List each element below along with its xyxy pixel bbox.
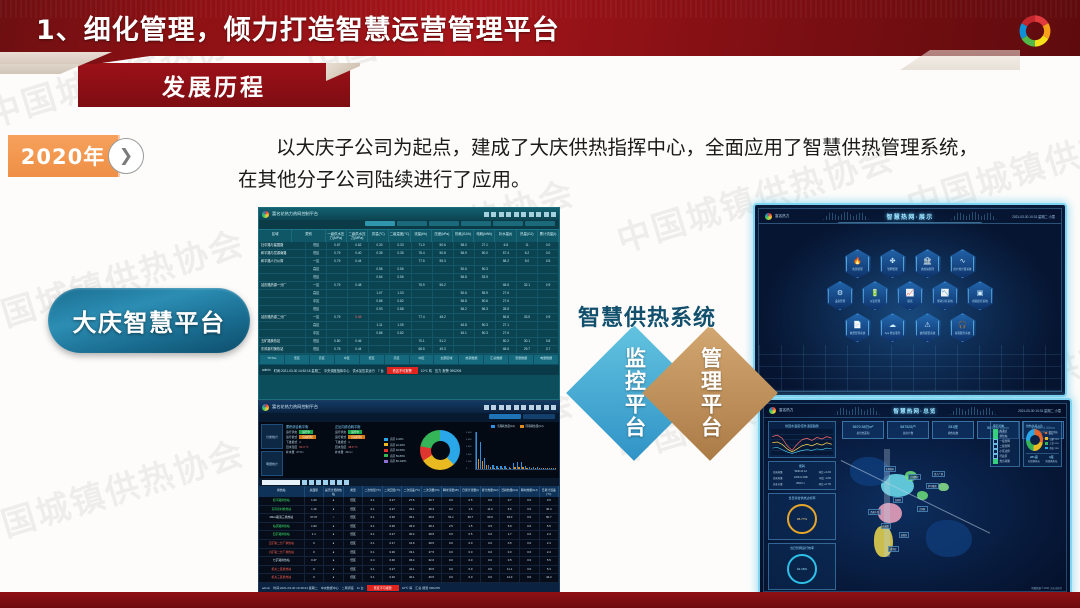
bl-cell: 44.3 xyxy=(540,574,560,582)
tl-cell: 0.5 xyxy=(538,258,559,265)
bl-cell: ● xyxy=(324,557,344,565)
tl-cell xyxy=(433,306,454,313)
tl-footer-buttons[interactable]: TOTAL低区高区中区低区高区中区全部区域热源数据汇总数据流量数据电量数据 xyxy=(259,354,559,365)
bl-panel-row: 运行模式自动控制 xyxy=(335,435,381,439)
tl-footer-button[interactable]: 热源数据 xyxy=(459,355,483,364)
tl-cell xyxy=(538,306,559,313)
window-icon[interactable] xyxy=(551,405,556,410)
bl-cell: 1.6 xyxy=(461,506,481,514)
bl-cell: 0.1 xyxy=(363,540,383,548)
bl-cell: 0.0 xyxy=(520,566,540,574)
br-gauge-card-1: 当日综合供热达标率 98.77% xyxy=(768,493,836,540)
bl-row-key: 运行模式 xyxy=(286,435,297,439)
bl-cell: 63.0 xyxy=(481,514,501,522)
folder-icon[interactable] xyxy=(344,480,349,485)
map-pin[interactable]: 铁人广场 xyxy=(932,471,945,477)
br-energy-row: 总补水量8603.1 t同比 +0.7% xyxy=(771,481,833,487)
bl-cell: 0.4 xyxy=(363,557,383,565)
gear-icon[interactable] xyxy=(544,405,549,410)
tr-hexagon-menu[interactable]: 🔥热源管理✤管网管理🏦换热站管理∿用户热计量系统⚙设备管理🔋仪表管理📈报表📉能耗… xyxy=(759,249,1061,343)
legend-swatch xyxy=(520,425,524,428)
chart-icon[interactable] xyxy=(521,212,526,217)
tl-cell xyxy=(348,306,369,313)
tl-cell: 50.6 xyxy=(454,290,475,297)
tl-cell: 48.6 xyxy=(496,346,517,353)
bl-cell: 0.0 xyxy=(481,566,501,574)
tl-cell-name: 五矿路换热站 xyxy=(259,338,306,345)
bl-row-value: 运行中 xyxy=(299,430,313,434)
hex-flame[interactable]: 🔥热源管理 xyxy=(845,249,871,279)
map-pin[interactable]: 东风新村 xyxy=(884,466,897,472)
tl-footer-button[interactable]: 低区 xyxy=(360,355,384,364)
br-bottom-label: 在线换热站 xyxy=(1026,459,1041,463)
tl-cell: 0.48 xyxy=(348,282,369,289)
tl-alert-button[interactable]: 低区不可报警 xyxy=(387,367,418,374)
bl-alert-button[interactable]: 低区不可报警 xyxy=(367,585,399,591)
tl-cell xyxy=(475,338,496,345)
table-icon[interactable] xyxy=(506,212,511,217)
map-pin[interactable]: 高新区 xyxy=(899,532,910,538)
br-title: 智慧热网·总览 xyxy=(764,407,1066,415)
bl-cell: 0.5 xyxy=(500,557,520,565)
tl-column-header: 压差(kPa) xyxy=(432,230,453,242)
hex-headset[interactable]: 🎧客服服务系统 xyxy=(950,313,976,343)
tl-cell: 0.79 xyxy=(327,258,348,265)
bar-series-2 xyxy=(498,468,499,469)
hex-report[interactable]: 📈报表 xyxy=(897,281,923,311)
bl-column-header: 是否计费换热站 xyxy=(324,486,344,497)
bl-cell: 0.0 xyxy=(481,540,501,548)
search-icon[interactable] xyxy=(302,480,307,485)
table-row: 低区0.640.5656.853.5 xyxy=(259,274,559,282)
tl-cell: 56.8 xyxy=(496,314,517,321)
bl-cell: 低区 xyxy=(344,497,364,505)
bl-column-header: 换热站 xyxy=(259,486,305,497)
pin-icon[interactable] xyxy=(514,405,519,410)
map-zone-pink xyxy=(878,503,902,523)
tl-column-header: 类别 xyxy=(292,230,325,242)
tl-cell: 77.4 xyxy=(412,314,433,321)
tl-footer-button[interactable]: 汇总数据 xyxy=(484,355,508,364)
bl-cell: 1.5 xyxy=(461,523,481,531)
tr-title: 智慧热网·展示 xyxy=(759,212,1061,221)
center-title: 智慧供热系统 xyxy=(578,300,716,332)
bar-series-2 xyxy=(526,468,527,469)
device-icon: 🔋 xyxy=(871,290,880,298)
bl-cell: ● xyxy=(324,506,344,514)
bl-cell: 36.1 xyxy=(402,514,422,522)
br-gauge2-value: 92.16% xyxy=(787,554,817,584)
tl-cell xyxy=(390,346,411,353)
bl-cell: 0 xyxy=(305,574,325,582)
hex-building[interactable]: 🏦换热站管理 xyxy=(915,249,941,279)
tl-cell xyxy=(412,266,433,273)
br-kpi-label: 总供热面积 xyxy=(857,431,870,435)
tl-cell: 27.1 xyxy=(496,322,517,329)
tl-cell xyxy=(517,306,538,313)
bl-cell: 0.6 xyxy=(481,497,501,505)
bl-bar-legend: 当期耗热量(GJ)同期耗热量(GJ) xyxy=(491,424,543,428)
tl-cell-name xyxy=(259,266,306,273)
hex-monitor[interactable]: ▣视频监控系统 xyxy=(967,281,993,311)
table-row: 社中路与建国路低区0.670.620.330.3371.050.658.027.… xyxy=(259,242,559,250)
tl-tab-5[interactable] xyxy=(525,221,555,226)
bl-ytick: 1 000 xyxy=(466,461,471,463)
bl-cell: 0 xyxy=(305,540,325,548)
tl-cell-name: 社中路与建国路 xyxy=(259,242,306,249)
alarm-icon: ⚠ xyxy=(924,322,930,330)
bl-status-count: 11 台 xyxy=(357,586,364,590)
tl-cell-name: 站庆路热源二分厂 xyxy=(259,314,306,321)
tl-cell: 50.2 xyxy=(496,338,517,345)
bl-cell: 2.4 xyxy=(540,549,560,557)
br-map-canvas[interactable]: 东风新村让胡路区萨尔图区龙凤区大同区红岗区高新区乘风庄铁人广场西苑小区 xyxy=(838,440,990,583)
tl-cell xyxy=(348,266,369,273)
map-pin[interactable]: 让胡路区 xyxy=(908,474,921,480)
bl-table-header: 换热站总面积是否计费换热站类型二次供温(℃)二次回温(℃)二次温差(℃)二次流量… xyxy=(259,486,559,497)
search-input[interactable] xyxy=(262,480,300,485)
tl-status-weather: 10℃ 晴 xyxy=(421,368,432,373)
bar-group xyxy=(484,432,487,469)
bl-cell: 0.7 xyxy=(500,497,520,505)
bl-row-value: 50.3 ℃ xyxy=(299,445,308,449)
legend-label: 当期耗热量(GJ) xyxy=(497,424,515,428)
bl-cell-name: 机关二区换热站 xyxy=(259,566,305,574)
hex-wave[interactable]: ∿用户热计量系统 xyxy=(950,249,976,279)
tl-cell: 0.67 xyxy=(327,242,348,249)
tl-cell xyxy=(327,266,348,273)
table-row: 机关三区换热站0●低区0.10.2040.130.50.00.00.012.00… xyxy=(259,574,559,583)
table-row: 站庆路热源二分厂一区0.790.4577.448.256.833.50.9 xyxy=(259,314,559,322)
tl-status-time: 时间:2021-03-30 14:52:16 星期二 xyxy=(274,368,321,373)
bl-cell-name: 五矿路二分厂换热站 xyxy=(259,540,305,548)
tl-cell-category: 低区 xyxy=(306,306,327,313)
br-energy-rows: 总耗热量5948.32 GJ同比 +3.2%总耗电量12634.2 kWh同比 … xyxy=(771,469,833,487)
hex-alarm[interactable]: ⚠故障报警系统 xyxy=(915,313,941,343)
list-icon[interactable] xyxy=(491,405,496,410)
tl-cell: 0.82 xyxy=(390,330,411,337)
tl-cell: 1.05 xyxy=(390,322,411,329)
tl-tab-3[interactable] xyxy=(461,221,491,226)
tl-column-header: 二级温度(℃) xyxy=(389,230,410,242)
ribbon-label: 发展历程 xyxy=(78,63,350,107)
map-pin[interactable]: 大同区 xyxy=(917,506,928,512)
br-energy-card: 能耗 总耗热量5948.32 GJ同比 +3.2%总耗电量12634.2 kWh… xyxy=(768,461,836,490)
hex-label: 报表 xyxy=(907,299,912,303)
bl-cell: 0.5 xyxy=(461,497,481,505)
table-row: 东风新村换热站1.16●低区0.10.2732.128.39.21.611.06… xyxy=(259,506,559,515)
bl-cell: 0.0 xyxy=(520,523,540,531)
tl-cell: 58.2 xyxy=(496,258,517,265)
tl-cell xyxy=(433,290,454,297)
legend-label: 高区 10-30% xyxy=(390,443,405,447)
bl-toolbar-icons[interactable] xyxy=(484,405,557,410)
tl-cell: 6.2 xyxy=(517,250,538,257)
tl-cell: 50.3 xyxy=(475,266,496,273)
br-kpi-value: 587525户 xyxy=(900,425,916,430)
tl-cell: 46.8 xyxy=(454,322,475,329)
tl-cell: 0.45 xyxy=(348,314,369,321)
bl-row-value: 自动控制 xyxy=(299,435,315,439)
tl-column-header: 热耗(GJ/h) xyxy=(453,230,474,242)
tl-cell xyxy=(517,290,538,297)
tl-cell: 30.1 xyxy=(517,338,538,345)
window-icon[interactable] xyxy=(551,212,556,217)
br-legend-item[interactable]: 热负荷图 xyxy=(993,459,1017,464)
bl-side-buttons[interactable]: 分类统计明细统计 xyxy=(261,424,283,476)
bl-column-header: 二次流量(t/h) xyxy=(422,486,442,497)
bl-ytick: 2 000 xyxy=(466,454,471,456)
headset-icon: 🎧 xyxy=(958,322,967,330)
bl-panel-row: 运行模式自动控制 xyxy=(286,435,332,439)
tl-toolbar-icons[interactable] xyxy=(484,212,557,217)
zoom-icon[interactable] xyxy=(309,480,314,485)
tl-cell: 57.4 xyxy=(496,250,517,257)
bar-series-2 xyxy=(478,459,479,469)
tl-cell xyxy=(412,274,433,281)
tl-cell-category: 高区 xyxy=(306,322,327,329)
alert-icon[interactable] xyxy=(529,405,534,410)
tl-cell-category: 低区 xyxy=(306,346,327,353)
tl-cell xyxy=(348,330,369,337)
tl-cell-name: 和平路人行公寓 xyxy=(259,258,306,265)
bl-cell-name: 和平路换热站 xyxy=(259,497,305,505)
bar-series-2 xyxy=(539,468,540,469)
bl-cell: 0.0 xyxy=(481,557,501,565)
tl-footer-button[interactable]: 高区 xyxy=(385,355,409,364)
hex-analysis[interactable]: 📉能耗分析系统 xyxy=(932,281,958,311)
bl-cell: 0.0 xyxy=(442,549,462,557)
bl-cell: 36.5 xyxy=(422,566,442,574)
bl-cell: 27.5 xyxy=(422,549,442,557)
table-row: 高区1.111.0546.850.327.1 xyxy=(259,322,559,330)
bl-cell: 低区 xyxy=(344,566,364,574)
tl-cell xyxy=(454,282,475,289)
tl-footer-button[interactable]: 高区 xyxy=(310,355,334,364)
map-pin[interactable]: 萨尔图区 xyxy=(926,483,939,489)
tl-tab-4[interactable] xyxy=(493,221,523,226)
tl-cell-category: 低区 xyxy=(306,250,327,257)
tl-cell xyxy=(454,338,475,345)
hex-gear[interactable]: ⚙设备管理 xyxy=(827,281,853,311)
tl-cell: 32.1 xyxy=(517,282,538,289)
bl-column-header: 总面积 xyxy=(305,486,325,497)
bl-panel-row: 补水量26.1 t xyxy=(335,450,381,454)
tl-footer-button[interactable]: 流量数据 xyxy=(509,355,533,364)
tl-column-header: 热量(GJ) xyxy=(517,230,538,242)
bl-bar-yaxis: 5 0004 0003 0002 0001 0000 xyxy=(466,432,471,470)
paragraph-line-2: 在其他分子公司陆续进行了应用。 xyxy=(238,164,1066,196)
building-icon[interactable] xyxy=(499,212,504,217)
bar-series-2 xyxy=(543,468,544,469)
tl-cell: 50.6 xyxy=(433,242,454,249)
tl-cell: 0.88 xyxy=(390,306,411,313)
tl-cell: 51.2 xyxy=(433,338,454,345)
br-energy-delta: 同比 +0.7% xyxy=(819,482,831,486)
bl-side-button[interactable]: 分类统计 xyxy=(261,424,283,449)
bar-series-2 xyxy=(494,468,495,469)
bl-cell: 低区 xyxy=(344,549,364,557)
map-pin[interactable]: 龙凤区 xyxy=(893,497,904,503)
pin-icon[interactable] xyxy=(514,212,519,217)
building-icon[interactable] xyxy=(499,405,504,410)
cloud-icon: ☁ xyxy=(889,322,896,330)
hex-device[interactable]: 🔋仪表管理 xyxy=(862,281,888,311)
tl-cell: 0.9 xyxy=(538,314,559,321)
tl-cell: 0.79 xyxy=(327,282,348,289)
bl-cell: 0.0 xyxy=(520,497,540,505)
bl-cell: ● xyxy=(324,531,344,539)
tl-cell xyxy=(538,290,559,297)
tl-cell: 0.9 xyxy=(538,282,559,289)
tl-cell xyxy=(433,274,454,281)
tools-icon[interactable] xyxy=(536,212,541,217)
bl-tab-0[interactable] xyxy=(489,414,521,419)
tl-cell: 0.33 xyxy=(390,242,411,249)
tl-cell: 0.7 xyxy=(538,346,559,353)
tl-table-header: 区域类别一级供水压力(MPa)二级供水压力(MPa)供温(℃)二级温度(℃)流量… xyxy=(259,229,559,242)
tl-cell-name: 站庆路热源一分厂 xyxy=(259,282,306,289)
br-energy-delta: 同比 -1.8% xyxy=(819,476,831,480)
map-pin[interactable]: 红岗区 xyxy=(881,523,892,529)
br-gauge1: 98.77% xyxy=(771,501,833,537)
print-icon[interactable] xyxy=(323,480,328,485)
tl-cell: 0.64 xyxy=(369,274,390,281)
tl-tab-0[interactable] xyxy=(365,221,395,226)
tl-cell: 56.2 xyxy=(433,282,454,289)
map-pin[interactable]: 西苑小区 xyxy=(868,509,881,515)
table-row: 和平路人行公寓一区0.790.4477.555.358.25.00.5 xyxy=(259,258,559,266)
settings-icon[interactable] xyxy=(337,480,342,485)
tl-cell xyxy=(496,266,517,273)
bl-side-button[interactable]: 明细统计 xyxy=(261,451,283,476)
tl-footer-button[interactable]: 电量数据 xyxy=(534,355,558,364)
bl-tab-strip[interactable] xyxy=(259,413,559,422)
checkbox-icon[interactable] xyxy=(993,459,998,464)
export-icon[interactable] xyxy=(316,480,321,485)
bl-table-toolbar[interactable] xyxy=(259,478,559,486)
tl-tab-2[interactable] xyxy=(429,221,459,226)
tr-floor-grid xyxy=(759,345,1061,391)
table-row: 28km路第三换热站67.07○低区0.10.3036.126.651.160.… xyxy=(259,514,559,523)
tl-cell: 58.0 xyxy=(454,242,475,249)
br-layer-legend[interactable]: 图层控制 热源点换热站一级管网二级管网小区边界行政区热负荷图 xyxy=(990,421,1020,467)
hex-cloud[interactable]: ☁App·微信服务 xyxy=(880,313,906,343)
bl-ytick: 4 000 xyxy=(466,439,471,441)
bl-cell: 1.1 xyxy=(305,531,325,539)
bl-pie-legend-item: 高区 0-10% xyxy=(384,437,414,441)
tl-cell: 45.1 xyxy=(454,330,475,337)
tl-footer-button[interactable]: 中区 xyxy=(410,355,434,364)
bl-cell: 0.0 xyxy=(461,557,481,565)
br-legend-items[interactable]: 热源点换热站一级管网二级管网小区边界行政区热负荷图 xyxy=(993,429,1017,464)
bl-cell: 5.5 xyxy=(540,557,560,565)
table-row: 六矿路二分厂换热站0●低区0.10.3033.127.50.00.00.00.3… xyxy=(259,549,559,558)
bl-panel-title: 正反向综合耗平衡 xyxy=(335,424,381,429)
tools-icon[interactable] xyxy=(536,405,541,410)
tl-footer-button[interactable]: 低区 xyxy=(285,355,309,364)
tl-status-count: 7 台 xyxy=(378,368,384,373)
chart-icon[interactable] xyxy=(521,405,526,410)
tr-hex-row: 📄收费管理系统☁App·微信服务⚠故障报警系统🎧客服服务系统 xyxy=(845,313,976,343)
grid-icon[interactable] xyxy=(484,212,489,217)
tl-footer-button[interactable]: 全部区域 xyxy=(434,355,458,364)
hex-network[interactable]: ✤管网管理 xyxy=(880,249,906,279)
tl-footer-button[interactable]: TOTAL xyxy=(260,355,284,364)
bar-series-2 xyxy=(502,468,503,469)
bar-series-2 xyxy=(547,468,548,469)
bl-cell: 0.6 xyxy=(442,497,462,505)
tl-cell-category: 一区 xyxy=(306,314,327,321)
bl-row-value: 48.6 ℃ xyxy=(348,445,357,449)
list-icon[interactable] xyxy=(491,212,496,217)
bl-cell-name: 机关三区换热站 xyxy=(259,574,305,582)
bl-cell: 28.1 xyxy=(422,523,442,531)
bl-row-value: 1 xyxy=(348,440,350,444)
tl-tab-strip[interactable] xyxy=(259,220,559,229)
tl-footer-button[interactable]: 中区 xyxy=(335,355,359,364)
bl-cell: 低区 xyxy=(344,506,364,514)
grid-icon[interactable] xyxy=(484,405,489,410)
br-energy-key: 总耗电量 xyxy=(773,476,783,480)
bar-series-2 xyxy=(482,461,483,469)
alert-icon[interactable] xyxy=(529,212,534,217)
bl-cell: 0.0 xyxy=(461,574,481,582)
br-bottom-card: 281座在线换热站 xyxy=(1026,455,1041,463)
bl-cell: 5.5 xyxy=(540,523,560,531)
bl-tab-1[interactable] xyxy=(523,414,555,419)
hex-doc[interactable]: 📄收费管理系统 xyxy=(845,313,871,343)
tl-cell xyxy=(454,346,475,353)
chevron-right-icon[interactable]: ❯ xyxy=(108,138,144,174)
hex-label: 客服服务系统 xyxy=(955,331,971,335)
tl-cell: 0.35 xyxy=(369,250,390,257)
tl-cell: 55.3 xyxy=(433,258,454,265)
tl-tab-1[interactable] xyxy=(397,221,427,226)
screenshot-heating-dashboard: 富名花热力热网控制平台 分类统计明细统计 累积综合耗平衡运行状态运行中运行模式自… xyxy=(258,400,560,593)
tl-cell xyxy=(369,338,390,345)
tl-cell: 27.1 xyxy=(475,242,496,249)
tl-cell xyxy=(517,330,538,337)
tl-cell xyxy=(454,314,475,321)
tl-status-extra: 压力·报警 0902/05 xyxy=(435,368,461,373)
hex-label: 热源管理 xyxy=(852,267,862,271)
refresh-icon[interactable] xyxy=(330,480,335,485)
bl-column-header: 日累计流量(t) xyxy=(461,486,481,497)
bl-cell-name: 四矿路换热站 xyxy=(259,531,305,539)
br-kpi-card: 281座换热站数 xyxy=(932,421,974,439)
br-left-panel: 供回水温度/室外温度趋势 能耗 xyxy=(768,421,836,590)
bl-cell: 0.3 xyxy=(500,549,520,557)
bar-series-2 xyxy=(555,468,556,469)
legend-label: 高区 30-50% xyxy=(390,448,405,452)
body-paragraph: 以大庆子公司为起点，建成了大庆供热指挥中心，全面应用了智慧供热管理系统， 在其他… xyxy=(238,132,1066,196)
bl-cell-name: 站庆路换热站 xyxy=(259,523,305,531)
map-pin[interactable]: 乘风庄 xyxy=(888,546,899,552)
bl-cell: 5.9 xyxy=(500,523,520,531)
br-energy-delta: 同比 +3.2% xyxy=(819,470,831,474)
tl-cell: 0.33 xyxy=(369,242,390,249)
br-trend-card: 供回水温度/室外温度趋势 xyxy=(768,421,836,458)
table-row: 机关二区换热站0●低区0.10.2744.136.50.00.00.011.10… xyxy=(259,566,559,575)
table-icon[interactable] xyxy=(506,405,511,410)
gear-icon[interactable] xyxy=(544,212,549,217)
tl-cell-name xyxy=(259,306,306,313)
tr-chevron-divider xyxy=(838,222,983,230)
bl-cell: 0.27 xyxy=(383,566,403,574)
tl-cell: 0.56 xyxy=(369,266,390,273)
bl-cell: 30.5 xyxy=(422,574,442,582)
